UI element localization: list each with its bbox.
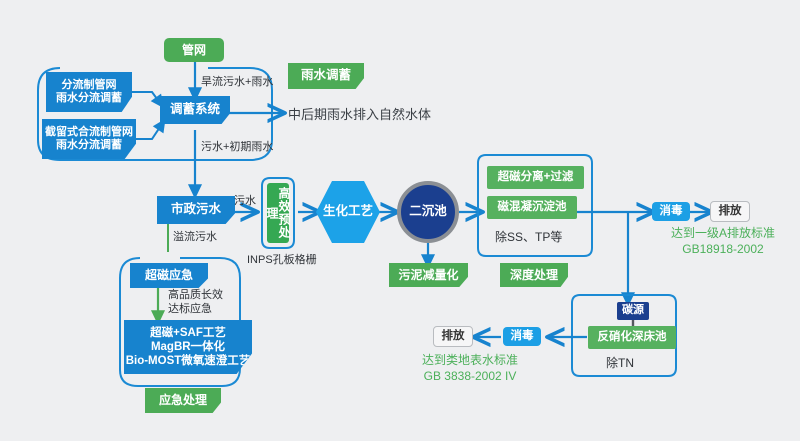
emergency-process-line3: Bio-MOST微氧速澄工艺 xyxy=(126,354,251,368)
node-denitrification[interactable]: 反硝化深床池 xyxy=(588,326,676,349)
edge-label-overflow-sewage: 溢流污水 xyxy=(173,228,217,244)
caption-standard-bottom: 达到类地表水标准 GB 3838-2002 IV xyxy=(395,352,545,384)
standard-bottom-line1: 达到类地表水标准 xyxy=(395,352,545,368)
caption-inps-grid: INPS孔板格栅 xyxy=(247,251,317,267)
node-intercept-network[interactable]: 截留式合流制管网 雨水分流调蓄 xyxy=(42,119,136,159)
node-discharge-top[interactable]: 排放 xyxy=(710,201,750,222)
intercept-network-line2: 雨水分流调蓄 xyxy=(56,139,122,152)
caption-remove-tn: 除TN xyxy=(606,354,634,371)
node-separate-network[interactable]: 分流制管网 雨水分流调蓄 xyxy=(46,72,132,112)
node-discharge-bottom[interactable]: 排放 xyxy=(433,326,473,347)
emergency-process-line2: MagBR一体化 xyxy=(151,340,225,354)
node-municipal-sewage[interactable]: 市政污水 xyxy=(157,196,235,224)
node-carbon-source[interactable]: 碳源 xyxy=(617,302,649,320)
separate-network-line2: 雨水分流调蓄 xyxy=(56,92,122,105)
edge-label-sewage-early-rain: 污水+初期雨水 xyxy=(201,138,273,154)
node-secondary-clarifier[interactable]: 二沉池 xyxy=(397,181,459,243)
standard-top-line1: 达到一级A排放标准 xyxy=(648,225,798,241)
node-emergency-treatment[interactable]: 应急处理 xyxy=(145,388,221,413)
node-magnetic-separation[interactable]: 超磁分离+过滤 xyxy=(487,166,584,189)
node-pretreatment[interactable]: 高效预处理 xyxy=(267,183,289,243)
node-deep-treatment[interactable]: 深度处理 xyxy=(500,263,568,287)
emergency-process-line1: 超磁+SAF工艺 xyxy=(150,326,226,340)
node-disinfect-bottom[interactable]: 消毒 xyxy=(503,327,541,346)
edge-label-to-natural-water: 中后期雨水排入自然水体 xyxy=(288,104,431,123)
standard-top-line2: GB18918-2002 xyxy=(648,241,798,257)
caption-remove-ss-tp: 除SS、TP等 xyxy=(495,228,562,245)
node-storage-system[interactable]: 调蓄系统 xyxy=(160,96,230,124)
caption-standard-top: 达到一级A排放标准 GB18918-2002 xyxy=(648,225,798,257)
edge-label-dry-flow: 旱流污水+雨水 xyxy=(201,73,273,89)
intercept-network-line1: 截留式合流制管网 xyxy=(45,126,133,139)
node-disinfect-top[interactable]: 消毒 xyxy=(652,202,690,221)
node-emergency-process[interactable]: 超磁+SAF工艺 MagBR一体化 Bio-MOST微氧速澄工艺 xyxy=(124,320,252,374)
node-emergency-magnetic[interactable]: 超磁应急 xyxy=(130,263,208,288)
node-magnetic-coagulation[interactable]: 磁混凝沉淀池 xyxy=(487,196,577,219)
flowchart-canvas: 管网 分流制管网 雨水分流调蓄 截留式合流制管网 雨水分流调蓄 调蓄系统 雨水调… xyxy=(0,0,800,441)
node-sludge-reduction[interactable]: 污泥减量化 xyxy=(389,263,468,287)
edge-label-high-quality-line2: 达标应急 xyxy=(168,300,212,316)
standard-bottom-line2: GB 3838-2002 IV xyxy=(395,368,545,384)
edge-label-sewage: 污水 xyxy=(234,192,256,208)
node-pipe-network[interactable]: 管网 xyxy=(164,38,224,62)
node-rain-storage[interactable]: 雨水调蓄 xyxy=(288,63,364,89)
separate-network-line1: 分流制管网 xyxy=(62,79,117,92)
